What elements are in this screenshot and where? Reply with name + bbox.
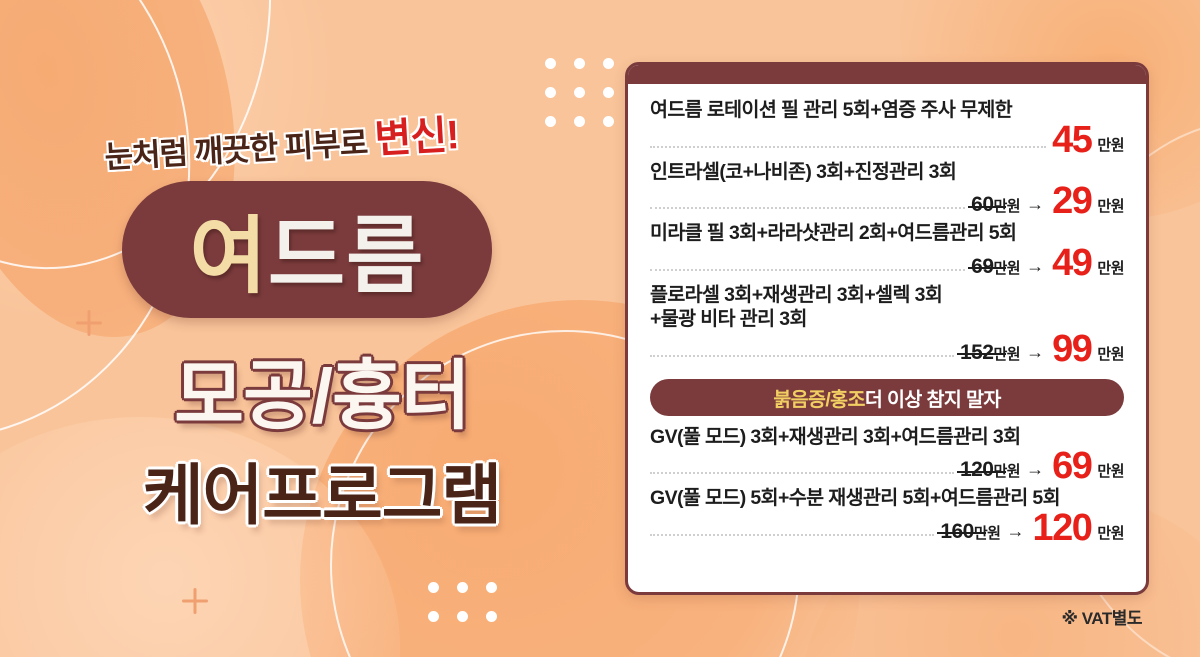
original-price-number: 60: [971, 193, 993, 216]
price-arrow-icon: →: [1026, 256, 1044, 277]
sale-price-unit: 만원: [1097, 460, 1124, 481]
price-row: GV(풀 모드) 5회+수분 재생관리 5회+여드름관리 5회160만원→120…: [650, 486, 1124, 546]
sale-price-number: 69: [1052, 449, 1091, 484]
kicker-prefix: 눈처럼 깨끗한 피부로: [104, 125, 376, 175]
price-row-values: 152만원→99만원: [650, 333, 1124, 367]
original-price-strikethrough: 160만원: [940, 520, 1002, 544]
price-arrow-icon: →: [1026, 459, 1044, 480]
section-divider-banner: 붉음증/홍조 더 이상 참지 말자: [650, 379, 1124, 416]
original-price-strikethrough: 152만원: [960, 341, 1022, 365]
original-price-unit: 만원: [994, 463, 1021, 480]
price-arrow-icon: →: [1006, 521, 1024, 542]
dotted-leader: [650, 207, 965, 209]
original-price-number: 152: [960, 341, 994, 364]
divider-highlight-text: 붉음증/홍조: [773, 383, 865, 412]
original-price-number: 120: [960, 458, 994, 481]
original-price-unit: 만원: [994, 260, 1021, 277]
kicker-highlight: 변신!: [373, 113, 459, 162]
sale-price-unit: 만원: [1097, 522, 1124, 543]
dotted-leader: [650, 534, 934, 536]
price-row: 인트라셀(코+나비존) 3회+진정관리 3회60만원→29만원: [650, 160, 1124, 220]
price-list-panel: 여드름 로테이션 필 관리 5회+염증 주사 무제한45만원인트라셀(코+나비존…: [625, 62, 1149, 595]
page-title-line2: 모공/흉터: [112, 334, 532, 444]
price-row-values: 60만원→29만원: [650, 185, 1124, 219]
price-arrow-icon: →: [1026, 342, 1044, 363]
price-row: 여드름 로테이션 필 관리 5회+염증 주사 무제한45만원: [650, 98, 1124, 158]
title-pill-part-b: 드름: [268, 189, 425, 310]
original-price-strikethrough: 60만원: [971, 193, 1022, 217]
sale-price-number: 49: [1052, 246, 1091, 281]
dotted-leader: [650, 146, 1046, 148]
sale-price-number: 120: [1032, 511, 1091, 546]
title-pill-badge: 여드름: [122, 181, 492, 318]
price-row: 미라클 필 3회+라라샷관리 2회+여드름관리 5회69만원→49만원: [650, 221, 1124, 281]
sale-price-number: 29: [1052, 184, 1091, 219]
original-price-number: 69: [971, 255, 993, 278]
original-price-unit: 만원: [974, 525, 1001, 542]
kicker-text: 눈처럼 깨끗한 피부로 변신!: [103, 102, 460, 180]
price-row: 플로라셀 3회+재생관리 3회+셀렉 3회+물광 비타 관리 3회152만원→9…: [650, 283, 1124, 367]
sale-price-number: 45: [1052, 123, 1091, 158]
price-row: GV(풀 모드) 3회+재생관리 3회+여드름관리 3회120만원→69만원: [650, 425, 1124, 485]
price-row-title: 플로라셀 3회+재생관리 3회+셀렉 3회+물광 비타 관리 3회: [650, 283, 1124, 332]
title-pill-part-a: 여: [190, 189, 268, 310]
divider-rest-text: 더 이상 참지 말자: [865, 383, 1001, 412]
original-price-unit: 만원: [994, 198, 1021, 215]
price-arrow-icon: →: [1026, 194, 1044, 215]
promo-headline-block: 눈처럼 깨끗한 피부로 변신! 여드름 모공/흉터 케어프로그램: [0, 0, 600, 657]
price-row-values: 120만원→69만원: [650, 450, 1124, 484]
price-rows-container: 여드름 로테이션 필 관리 5회+염증 주사 무제한45만원인트라셀(코+나비존…: [628, 84, 1146, 592]
title-pill-text: 여드름: [122, 181, 492, 318]
page-title-line3: 케어프로그램: [92, 442, 552, 538]
original-price-strikethrough: 69만원: [971, 255, 1022, 279]
sale-price-unit: 만원: [1097, 257, 1124, 278]
dotted-leader: [650, 472, 954, 474]
original-price-unit: 만원: [994, 346, 1021, 363]
sale-price-unit: 만원: [1097, 343, 1124, 364]
price-row-values: 160만원→120만원: [650, 512, 1124, 546]
vat-note: ※ VAT별도: [1061, 604, 1142, 629]
original-price-strikethrough: 120만원: [960, 458, 1022, 482]
price-row-values: 45만원: [650, 124, 1124, 158]
original-price-number: 160: [940, 520, 974, 543]
panel-top-cap: [628, 65, 1146, 84]
sale-price-unit: 만원: [1097, 195, 1124, 216]
dotted-leader: [650, 355, 954, 357]
sale-price-number: 99: [1052, 332, 1091, 367]
dotted-leader: [650, 269, 965, 271]
sale-price-unit: 만원: [1097, 134, 1124, 155]
price-row-values: 69만원→49만원: [650, 247, 1124, 281]
